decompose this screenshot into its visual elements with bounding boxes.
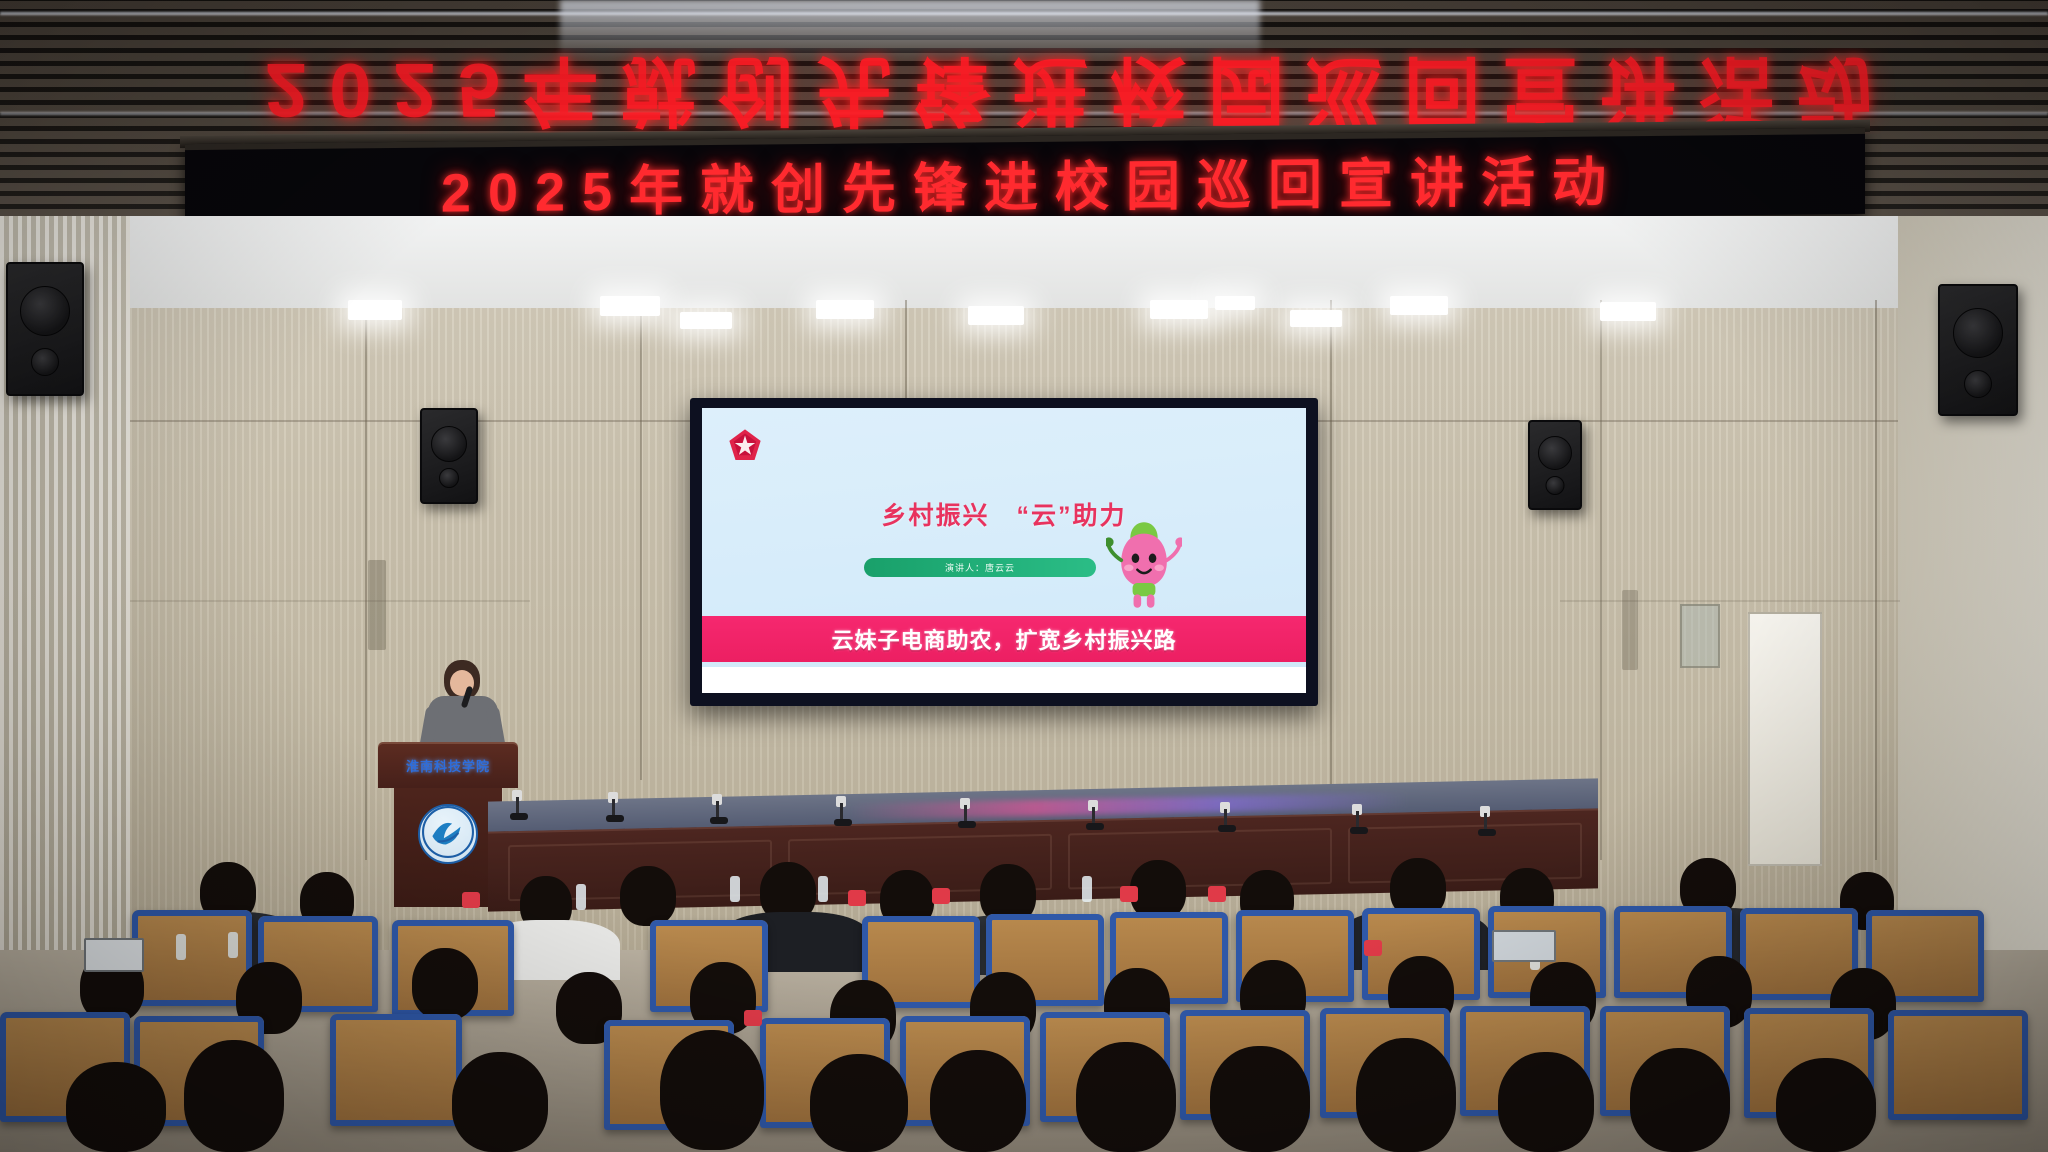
red-cup bbox=[1120, 886, 1138, 902]
laptop bbox=[1492, 930, 1556, 962]
slide-footer-strip bbox=[702, 667, 1306, 693]
table-microphone bbox=[958, 802, 968, 828]
ceiling-light bbox=[816, 300, 874, 319]
university-crest-logo-icon bbox=[418, 804, 478, 864]
wall-seam bbox=[365, 300, 367, 860]
red-cup bbox=[848, 890, 866, 906]
wall-fixture bbox=[368, 560, 386, 650]
ceiling-streak bbox=[0, 12, 2048, 15]
slide-subtitle-text: 云妹子电商助农，扩宽乡村振兴路 bbox=[831, 623, 1176, 655]
table-microphone bbox=[1086, 804, 1096, 830]
wall-window bbox=[1680, 604, 1720, 668]
projection-screen: 乡村振兴 “云”助力 演讲人：唐云云 bbox=[690, 398, 1318, 706]
podium-nameplate: 淮南科技学院 bbox=[378, 742, 518, 788]
table-microphone bbox=[1218, 806, 1228, 832]
table-microphone bbox=[710, 798, 720, 824]
wall-seam bbox=[1600, 300, 1602, 860]
wall-seam bbox=[130, 600, 530, 602]
wall-seam bbox=[1560, 600, 1900, 602]
red-star-emblem-icon bbox=[728, 428, 762, 462]
ceiling-light bbox=[1390, 296, 1448, 315]
wall-fixture bbox=[1622, 590, 1638, 670]
ceiling-light bbox=[348, 300, 402, 320]
ceiling-light bbox=[1600, 302, 1656, 321]
ceiling-light bbox=[680, 312, 732, 329]
ceiling-light bbox=[1150, 300, 1208, 319]
water-bottle bbox=[228, 932, 238, 958]
slide-surface: 乡村振兴 “云”助力 演讲人：唐云云 bbox=[702, 408, 1306, 693]
slide-presenter-label: 演讲人：唐云云 bbox=[945, 561, 1015, 574]
table-microphone bbox=[834, 800, 844, 826]
red-cup bbox=[1208, 886, 1226, 902]
table-microphone bbox=[1350, 808, 1360, 834]
red-cup bbox=[744, 1010, 762, 1026]
table-microphone bbox=[606, 796, 616, 822]
wall-seam bbox=[1875, 300, 1877, 860]
ceiling-light bbox=[1290, 310, 1342, 327]
ceiling-light bbox=[968, 306, 1024, 325]
water-bottle bbox=[730, 876, 740, 902]
slide-title: 乡村振兴 “云”助力 bbox=[702, 496, 1306, 532]
slide-presenter-bar: 演讲人：唐云云 bbox=[864, 558, 1096, 577]
red-cup bbox=[1364, 940, 1382, 956]
wall-speaker bbox=[6, 262, 84, 396]
water-bottle bbox=[818, 876, 828, 902]
led-banner: 2025年就创先锋进校园巡回宣讲活动 bbox=[185, 128, 1865, 230]
wall-speaker bbox=[1528, 420, 1582, 510]
wall-speaker bbox=[420, 408, 478, 504]
water-bottle bbox=[576, 884, 586, 910]
ceiling-light bbox=[600, 296, 660, 316]
ceiling-light bbox=[1215, 296, 1255, 310]
table-microphone bbox=[1478, 810, 1488, 836]
wall-seam bbox=[640, 300, 642, 780]
water-bottle bbox=[1082, 876, 1092, 902]
white-ceiling-strip bbox=[130, 216, 1898, 308]
wall-seam bbox=[1330, 300, 1332, 860]
podium-institution-label: 淮南科技学院 bbox=[406, 756, 490, 775]
led-banner-text: 2025年就创先锋进校园巡回宣讲活动 bbox=[427, 137, 1623, 227]
exit-door bbox=[1748, 612, 1822, 866]
sweet-potato-mascot-icon bbox=[1106, 516, 1182, 612]
red-cup bbox=[462, 892, 480, 908]
wall-speaker bbox=[1938, 284, 2018, 416]
wall-seam bbox=[905, 300, 907, 410]
auditorium-scene: 2025年就创先锋进校园巡回宣讲活动 2025年就创先锋进校园巡回宣讲活动 bbox=[0, 0, 2048, 1152]
table-microphone bbox=[510, 794, 520, 820]
red-cup bbox=[932, 888, 950, 904]
slide-subtitle-banner: 云妹子电商助农，扩宽乡村振兴路 bbox=[702, 616, 1306, 662]
laptop bbox=[84, 938, 144, 972]
water-bottle bbox=[176, 934, 186, 960]
